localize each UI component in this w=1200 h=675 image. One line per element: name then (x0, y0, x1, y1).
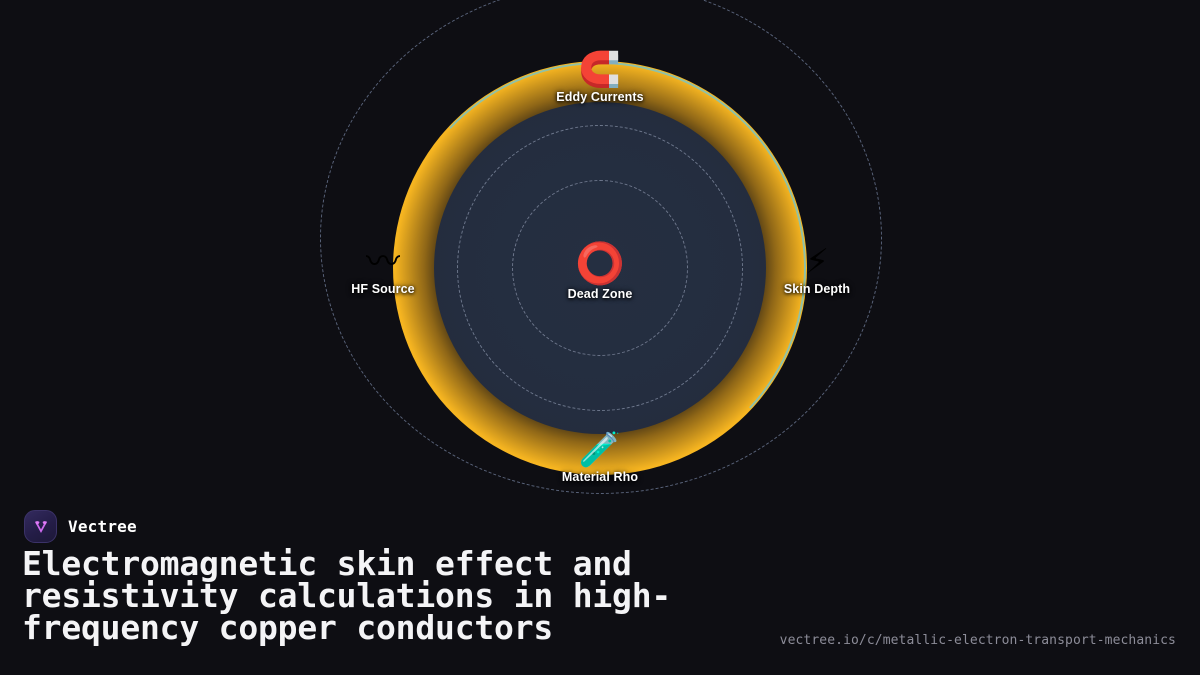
node-label: Eddy Currents (525, 91, 675, 104)
vectree-logo-icon (24, 510, 57, 543)
source-url: vectree.io/c/metallic-electron-transport… (780, 633, 1176, 648)
radial-diagram: 🧲 Eddy Currents 〰 HF Source ⭕ Dead Zone … (0, 0, 1200, 540)
page-title: Electromagnetic skin effect and resistiv… (22, 548, 762, 644)
node-label: Skin Depth (742, 283, 892, 296)
node-hf-source[interactable]: 〰 HF Source (308, 244, 458, 296)
node-label: HF Source (308, 283, 458, 296)
node-label: Material Rho (525, 471, 675, 484)
test-tube-icon: 🧪 (525, 432, 675, 468)
red-ring-icon: ⭕ (525, 243, 675, 285)
node-skin-depth[interactable]: ⚡ Skin Depth (742, 244, 892, 296)
footer: Vectree Electromagnetic skin effect and … (0, 500, 1200, 675)
brand[interactable]: Vectree (24, 510, 137, 543)
node-label: Dead Zone (525, 288, 675, 301)
node-dead-zone[interactable]: ⭕ Dead Zone (525, 243, 675, 301)
node-eddy-currents[interactable]: 🧲 Eddy Currents (525, 52, 675, 104)
node-material-rho[interactable]: 🧪 Material Rho (525, 432, 675, 484)
wave-icon: 〰 (308, 244, 458, 280)
brand-name: Vectree (68, 517, 137, 536)
magnet-icon: 🧲 (525, 52, 675, 88)
lightning-icon: ⚡ (742, 244, 892, 280)
poster-canvas: 🧲 Eddy Currents 〰 HF Source ⭕ Dead Zone … (0, 0, 1200, 675)
